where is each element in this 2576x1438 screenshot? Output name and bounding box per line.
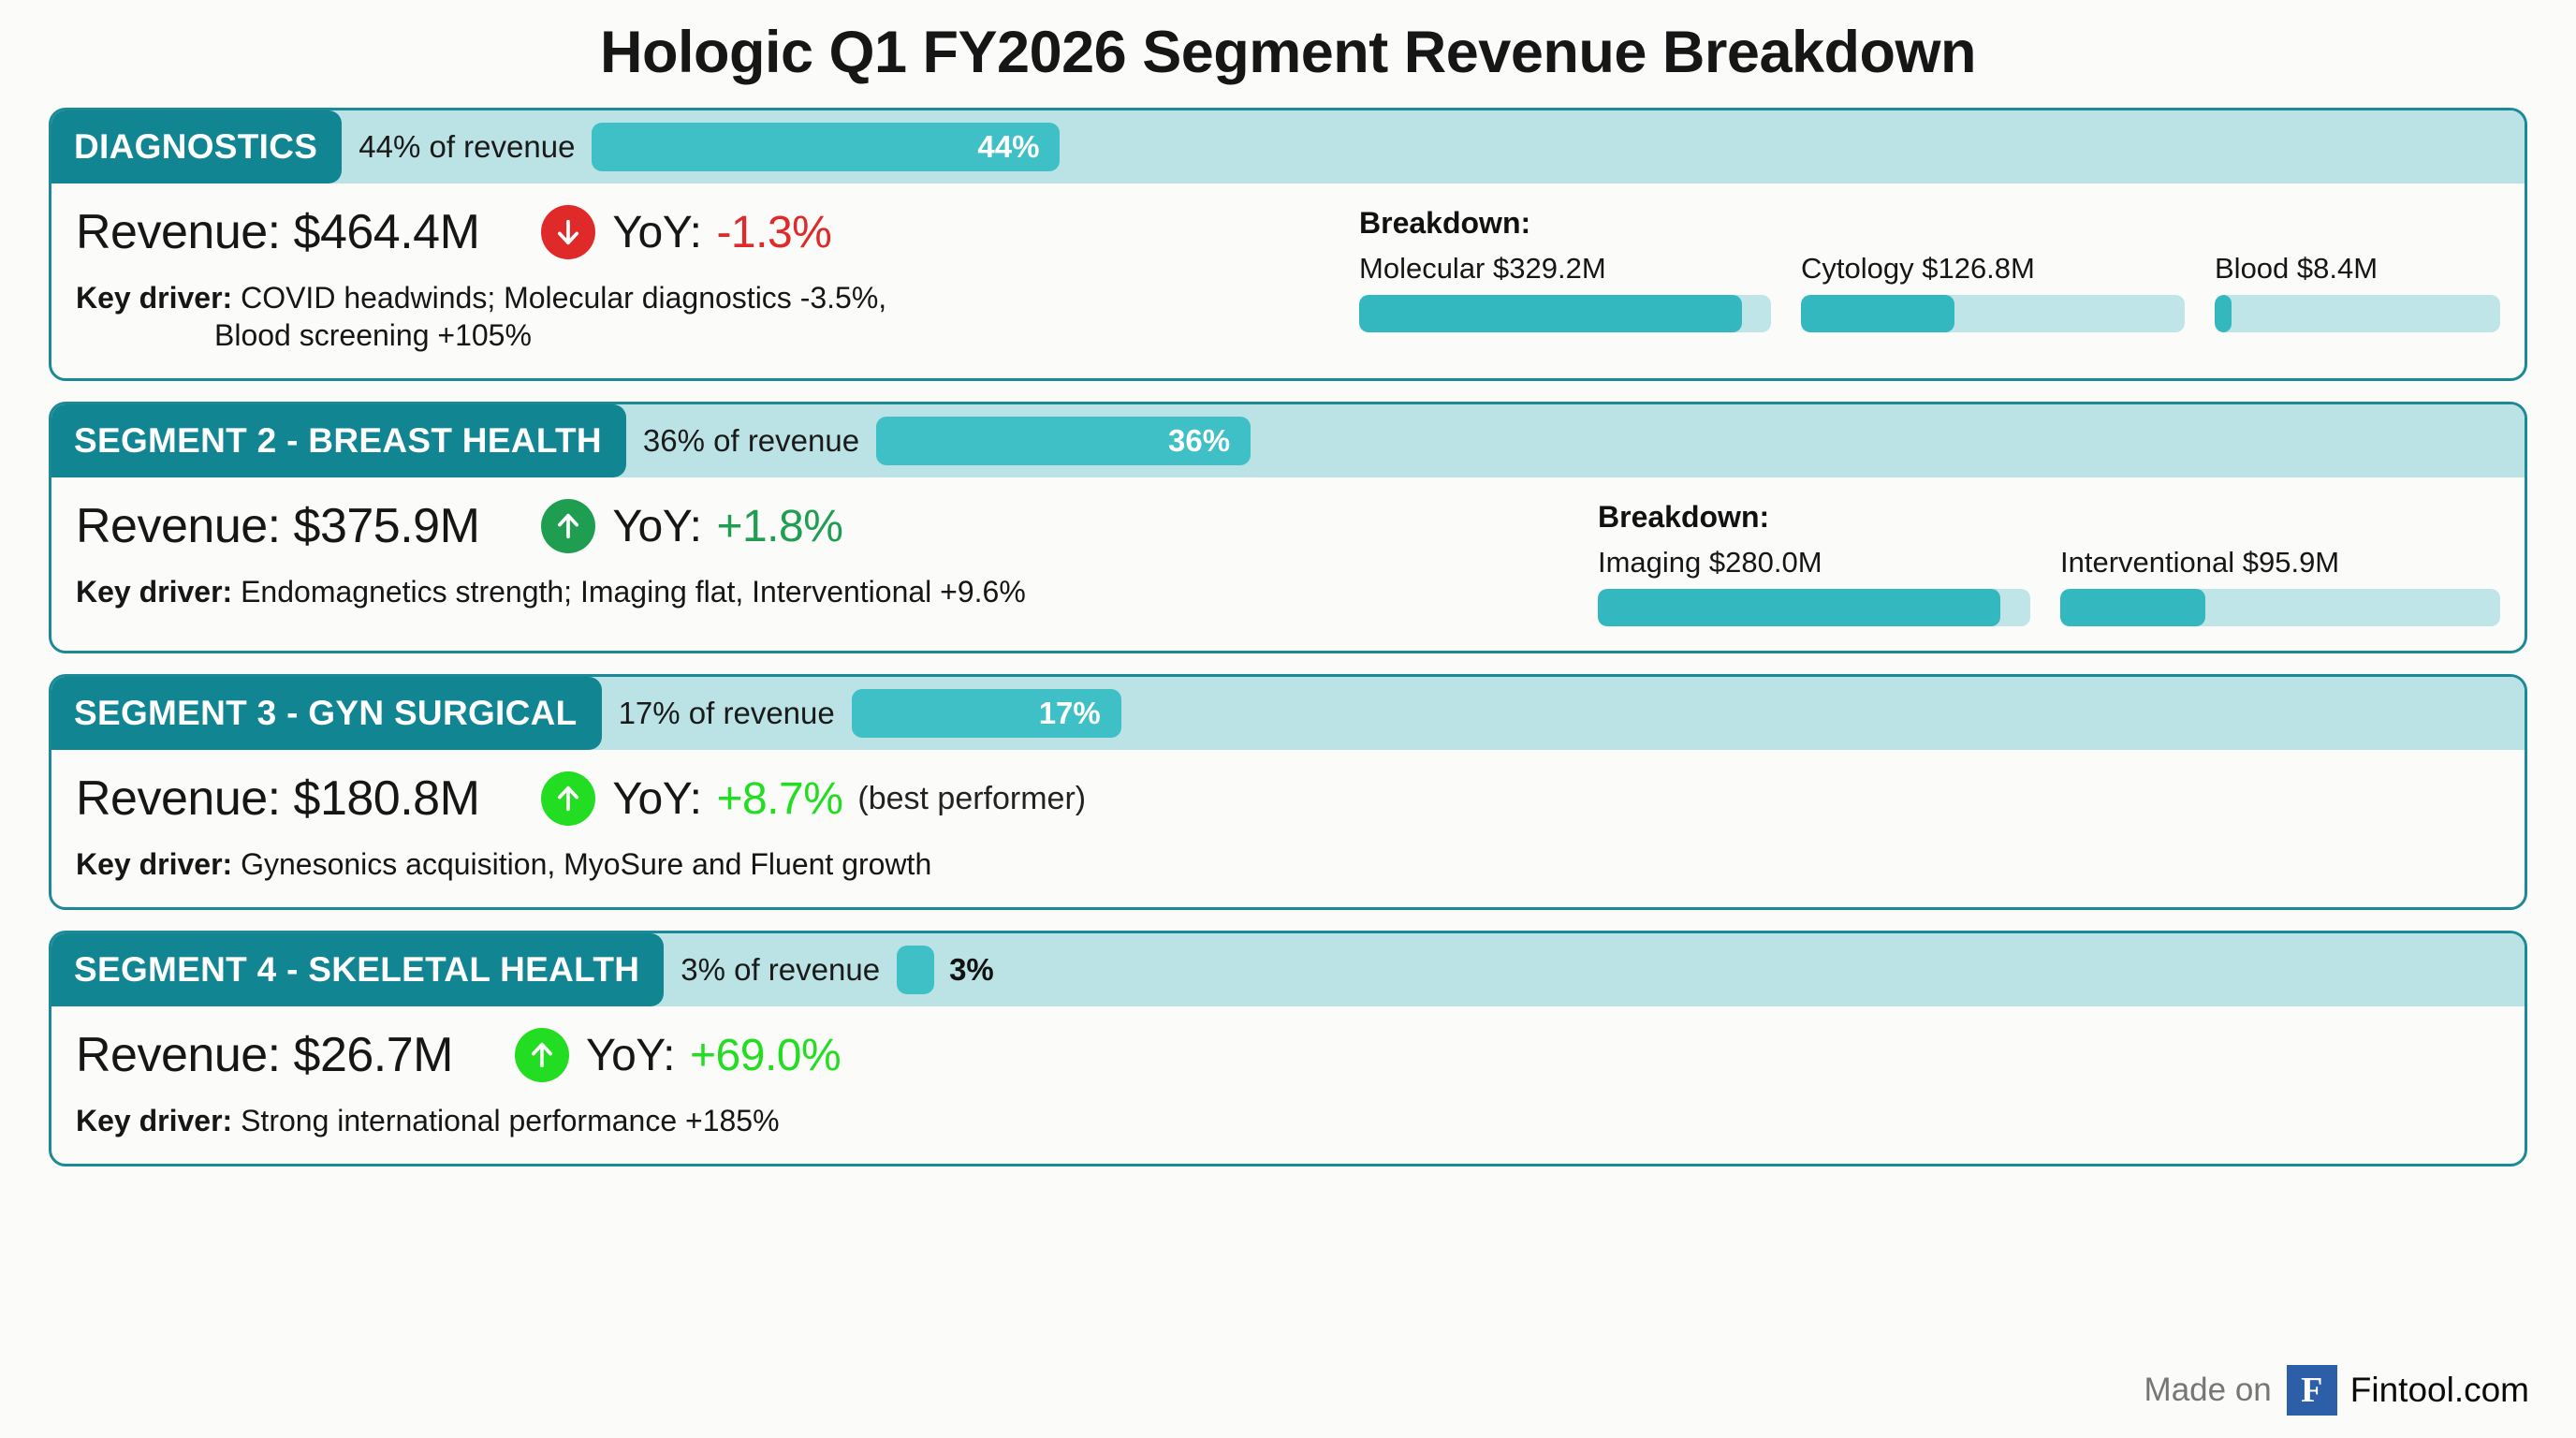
key-driver-line-1: COVID headwinds; Molecular diagnostics -… — [232, 281, 886, 315]
fintool-badge[interactable]: Made on F Fintool.com — [2128, 1356, 2542, 1425]
yoy-label: YoY: — [612, 501, 701, 552]
arrow-up-icon — [515, 1028, 569, 1082]
breakdown-title: Breakdown: — [1359, 206, 2500, 241]
fintool-site-label: Fintool.com — [2350, 1371, 2529, 1410]
breakdown-item: Interventional $95.9M — [2060, 546, 2500, 626]
segment-metrics: Revenue: $375.9MYoY:+1.8%Key driver: End… — [76, 498, 1570, 610]
revenue-row: Revenue: $180.8MYoY:+8.7%(best performer… — [76, 770, 2500, 827]
breakdown-item-track — [1598, 589, 2030, 626]
yoy-label: YoY: — [612, 773, 701, 825]
key-driver-line-1: Gynesonics acquisition, MyoSure and Flue… — [232, 847, 931, 881]
segment-share-percent: 36% — [1168, 423, 1251, 459]
segment-share-label: 36% of revenue — [643, 423, 859, 459]
key-driver-prefix: Key driver: — [76, 847, 232, 881]
segment-breakdown: Breakdown:Molecular $329.2MCytology $126… — [1331, 204, 2500, 332]
segment-card-header: SEGMENT 2 - BREAST HEALTH36% of revenue3… — [51, 404, 2525, 477]
breakdown-title: Breakdown: — [1598, 500, 2500, 535]
key-driver-text: Key driver: Gynesonics acquisition, MyoS… — [76, 845, 2500, 883]
breakdown-item-track — [1801, 295, 2185, 332]
key-driver-text: Key driver: COVID headwinds; Molecular d… — [76, 279, 1237, 354]
breakdown-item-track — [2215, 295, 2500, 332]
yoy-value: +8.7% — [716, 773, 842, 825]
segment-card-body: Revenue: $180.8MYoY:+8.7%(best performer… — [51, 750, 2525, 907]
infographic-page: Hologic Q1 FY2026 Segment Revenue Breakd… — [0, 0, 2576, 1438]
segment-card: SEGMENT 2 - BREAST HEALTH36% of revenue3… — [49, 402, 2527, 653]
segment-share-bar — [897, 946, 934, 994]
key-driver-line-1: Strong international performance +185% — [232, 1104, 779, 1137]
segment-name-pill: SEGMENT 2 - BREAST HEALTH — [51, 404, 626, 477]
segment-share-label: 3% of revenue — [681, 952, 880, 988]
segment-card-body: Revenue: $375.9MYoY:+1.8%Key driver: End… — [51, 477, 2525, 651]
segment-share-label: 17% of revenue — [619, 696, 835, 731]
yoy-value: +1.8% — [716, 501, 842, 552]
breakdown-item-track — [2060, 589, 2500, 626]
segment-card-body: Revenue: $464.4MYoY:-1.3%Key driver: COV… — [51, 183, 2525, 378]
segment-share-label: 44% of revenue — [359, 129, 575, 165]
segment-share-percent: 3% — [949, 952, 994, 988]
segment-share-percent: 17% — [1039, 696, 1121, 731]
revenue-row: Revenue: $26.7MYoY:+69.0% — [76, 1027, 2500, 1083]
segment-card-header: SEGMENT 4 - SKELETAL HEALTH3% of revenue… — [51, 933, 2525, 1006]
breakdown-item-fill — [2060, 589, 2205, 626]
segment-breakdown: Breakdown:Imaging $280.0MInterventional … — [1570, 498, 2500, 626]
arrow-down-icon — [541, 205, 595, 259]
breakdown-item-fill — [1598, 589, 2000, 626]
yoy-value: +69.0% — [690, 1030, 841, 1081]
segment-card: DIAGNOSTICS44% of revenue44%Revenue: $46… — [49, 108, 2527, 381]
page-title: Hologic Q1 FY2026 Segment Revenue Breakd… — [49, 0, 2527, 108]
breakdown-item: Blood $8.4M — [2215, 252, 2500, 332]
segment-share-bar: 17% — [852, 689, 1121, 738]
key-driver-prefix: Key driver: — [76, 1104, 232, 1137]
breakdown-row: Imaging $280.0MInterventional $95.9M — [1598, 546, 2500, 626]
breakdown-item-track — [1359, 295, 1771, 332]
segment-share-percent: 44% — [977, 129, 1060, 165]
yoy-value: -1.3% — [716, 207, 831, 258]
breakdown-item-label: Molecular $329.2M — [1359, 252, 1771, 286]
breakdown-item-label: Interventional $95.9M — [2060, 546, 2500, 580]
fintool-logo-icon: F — [2287, 1365, 2337, 1416]
breakdown-item-fill — [2215, 295, 2232, 332]
breakdown-item: Molecular $329.2M — [1359, 252, 1771, 332]
breakdown-item-label: Imaging $280.0M — [1598, 546, 2030, 580]
revenue-row: Revenue: $375.9MYoY:+1.8% — [76, 498, 1570, 554]
key-driver-text: Key driver: Strong international perform… — [76, 1102, 2500, 1139]
yoy-group: YoY:+1.8% — [541, 499, 842, 553]
yoy-note: (best performer) — [857, 781, 1086, 817]
key-driver-line-1: Endomagnetics strength; Imaging flat, In… — [232, 575, 1026, 609]
key-driver-prefix: Key driver: — [76, 575, 232, 609]
segment-name-pill: SEGMENT 4 - SKELETAL HEALTH — [51, 933, 664, 1006]
segment-card-list: DIAGNOSTICS44% of revenue44%Revenue: $46… — [49, 108, 2527, 1167]
key-driver-text: Key driver: Endomagnetics strength; Imag… — [76, 573, 1237, 610]
segment-share-bar: 36% — [876, 417, 1251, 465]
segment-metrics: Revenue: $26.7MYoY:+69.0%Key driver: Str… — [76, 1027, 2500, 1139]
segment-card-body: Revenue: $26.7MYoY:+69.0%Key driver: Str… — [51, 1006, 2525, 1164]
key-driver-line-2: Blood screening +105% — [76, 316, 1237, 354]
segment-name-pill: SEGMENT 3 - GYN SURGICAL — [51, 677, 602, 750]
segment-card: SEGMENT 3 - GYN SURGICAL17% of revenue17… — [49, 674, 2527, 910]
breakdown-item-label: Blood $8.4M — [2215, 252, 2500, 286]
revenue-row: Revenue: $464.4MYoY:-1.3% — [76, 204, 1331, 260]
segment-metrics: Revenue: $180.8MYoY:+8.7%(best performer… — [76, 770, 2500, 883]
breakdown-row: Molecular $329.2MCytology $126.8MBlood $… — [1359, 252, 2500, 332]
breakdown-item: Imaging $280.0M — [1598, 546, 2030, 626]
breakdown-item-fill — [1801, 295, 1954, 332]
breakdown-item-fill — [1359, 295, 1742, 332]
segment-card: SEGMENT 4 - SKELETAL HEALTH3% of revenue… — [49, 931, 2527, 1167]
revenue-value: Revenue: $26.7M — [76, 1027, 453, 1083]
breakdown-item-label: Cytology $126.8M — [1801, 252, 2185, 286]
segment-share-bar: 44% — [592, 123, 1060, 171]
made-on-label: Made on — [2144, 1372, 2272, 1409]
revenue-value: Revenue: $375.9M — [76, 498, 479, 554]
segment-card-header: SEGMENT 3 - GYN SURGICAL17% of revenue17… — [51, 677, 2525, 750]
segment-card-header: DIAGNOSTICS44% of revenue44% — [51, 110, 2525, 183]
arrow-up-icon — [541, 771, 595, 826]
revenue-value: Revenue: $180.8M — [76, 770, 479, 827]
revenue-value: Revenue: $464.4M — [76, 204, 479, 260]
yoy-group: YoY:+69.0% — [515, 1028, 841, 1082]
yoy-group: YoY:+8.7%(best performer) — [541, 771, 1086, 826]
segment-metrics: Revenue: $464.4MYoY:-1.3%Key driver: COV… — [76, 204, 1331, 354]
yoy-label: YoY: — [586, 1030, 675, 1081]
yoy-group: YoY:-1.3% — [541, 205, 831, 259]
arrow-up-icon — [541, 499, 595, 553]
key-driver-prefix: Key driver: — [76, 281, 232, 315]
yoy-label: YoY: — [612, 207, 701, 258]
breakdown-item: Cytology $126.8M — [1801, 252, 2185, 332]
segment-name-pill: DIAGNOSTICS — [51, 110, 342, 183]
